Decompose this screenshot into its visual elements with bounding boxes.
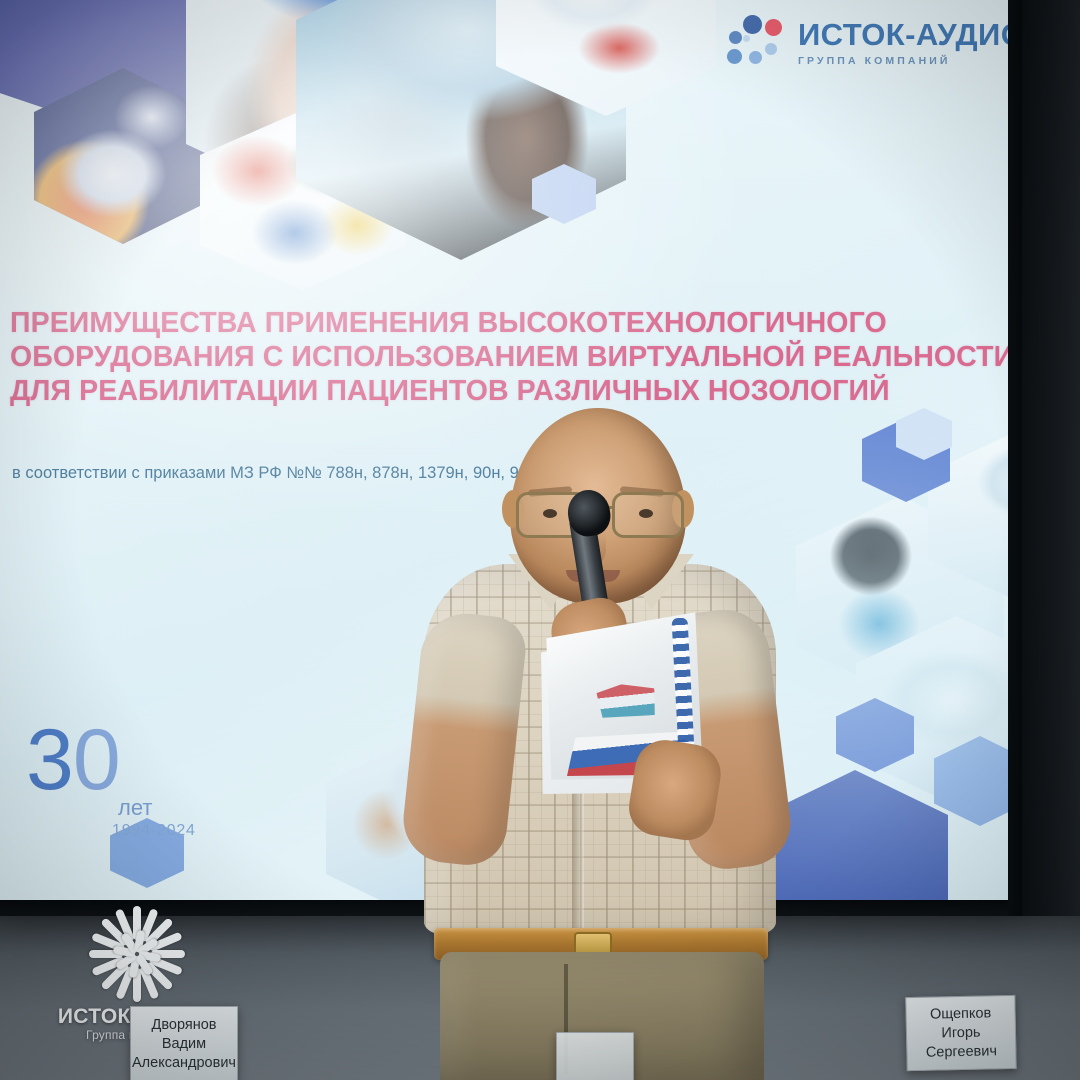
anniversary-word: лет: [118, 797, 152, 819]
placard-left-surname: Дворянов: [152, 1016, 217, 1035]
placard-right: Ощепков Игорь Сергеевич: [905, 995, 1017, 1071]
placard-left-firstname: Вадим: [162, 1035, 206, 1054]
placard-center-partial: [556, 1032, 634, 1080]
slide-title-line-3: ДЛЯ РЕАБИЛИТАЦИИ ПАЦИЕНТОВ РАЗЛИЧНЫХ НОЗ…: [10, 374, 970, 408]
placard-right-patronymic: Сергеевич: [926, 1042, 997, 1062]
anniversary-years: 1994-2024: [112, 823, 196, 839]
logo-subtitle: ГРУППА КОМПАНИЙ: [798, 55, 1022, 67]
presentation-photo: ИСТОК-АУДИО ГРУППА КОМПАНИЙ ПРЕИМУЩЕСТВА…: [0, 0, 1080, 1080]
placard-left: Дворянов Вадим Александрович: [130, 1006, 238, 1080]
placard-right-surname: Ощепков: [930, 1004, 992, 1024]
anniversary-mark: 30 лет 1994-2024: [26, 723, 216, 843]
presenter-figure: [404, 404, 804, 1080]
brand-logo: ИСТОК-АУДИО ГРУППА КОМПАНИЙ: [727, 6, 1022, 80]
placard-right-firstname: Игорь: [941, 1023, 980, 1043]
glasses-lens-right: [612, 492, 684, 538]
screen-right-edge: [1008, 0, 1022, 916]
logo-title: ИСТОК-АУДИО: [798, 19, 1022, 50]
slide-title-line-2: ОБОРУДОВАНИЯ С ИСПОЛЬЗОВАНИЕМ ВИРТУАЛЬНО…: [10, 340, 970, 374]
starburst-icon: [74, 898, 192, 1010]
slide-title: ПРЕИМУЩЕСТВА ПРИМЕНЕНИЯ ВЫСОКОТЕХНОЛОГИЧ…: [10, 306, 970, 408]
logo-dots-icon: [727, 13, 789, 73]
slide-title-line-1: ПРЕИМУЩЕСТВА ПРИМЕНЕНИЯ ВЫСОКОТЕХНОЛОГИЧ…: [10, 306, 970, 340]
anniversary-number: 30: [26, 717, 120, 803]
anniversary-digit-0: 0: [73, 712, 120, 808]
placard-left-patronymic: Александрович: [132, 1054, 236, 1073]
anniversary-digit-3: 3: [26, 712, 73, 808]
presenter-eye-left: [543, 509, 557, 518]
wall-right-dark: [1022, 0, 1080, 916]
presenter-eye-right: [639, 509, 653, 518]
